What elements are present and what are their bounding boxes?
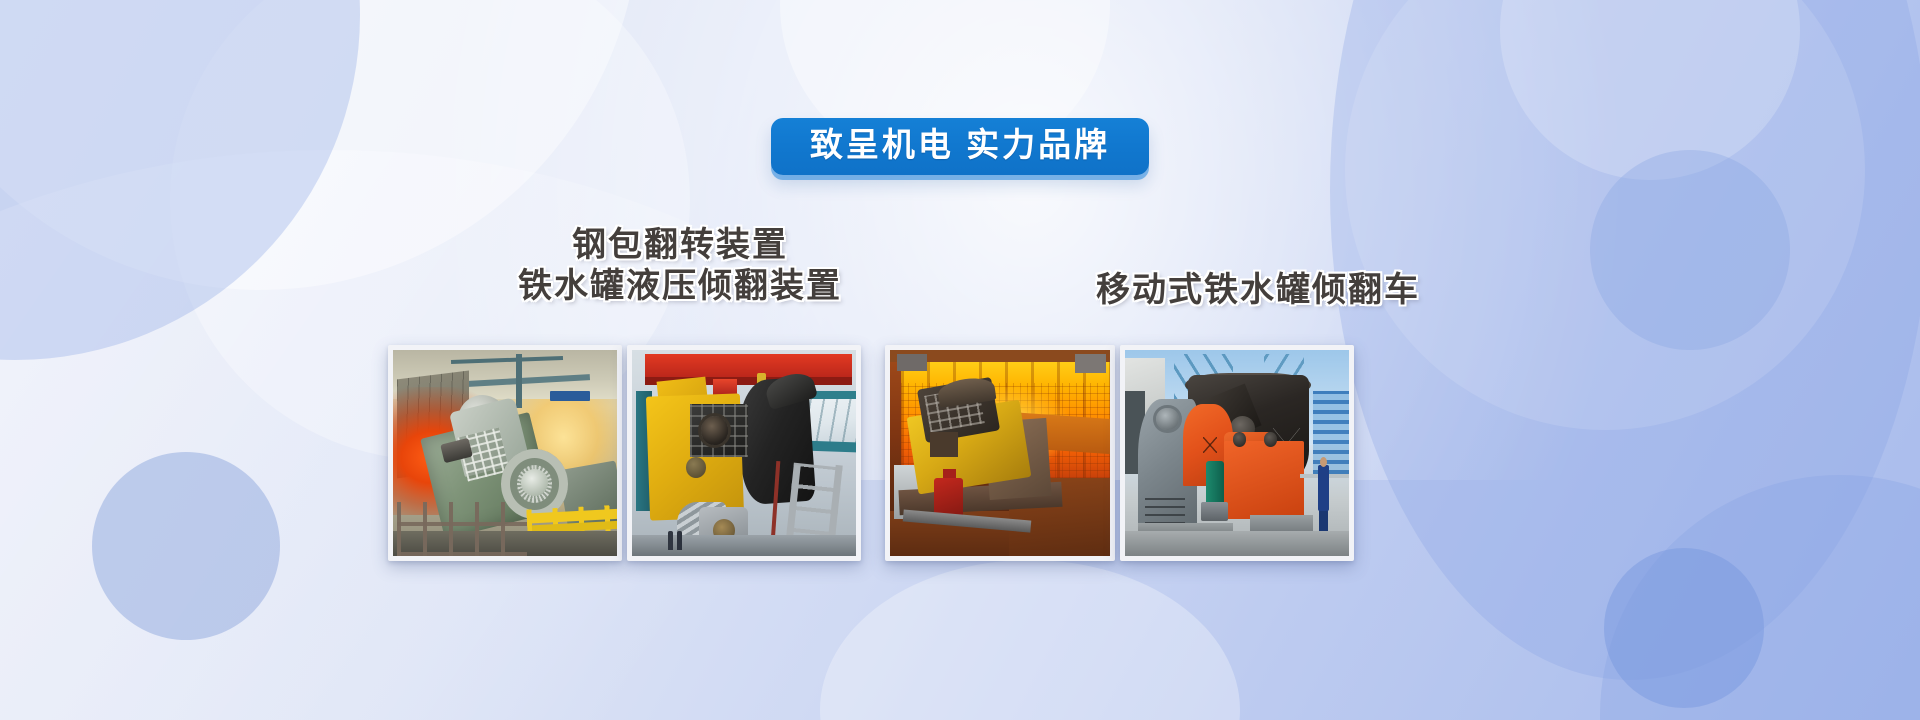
pivot-bolt bbox=[686, 457, 706, 478]
heading-mobile-tipping-car: 移动式铁水罐倾翻车 bbox=[1008, 270, 1508, 311]
photo-canvas bbox=[393, 350, 617, 556]
ram-base-plate bbox=[1201, 502, 1228, 521]
brand-badge[interactable]: 致呈机电 实力品牌 bbox=[771, 118, 1149, 175]
photo-orange-grey-tipping-car[interactable] bbox=[1120, 345, 1354, 561]
control-panel bbox=[930, 432, 959, 457]
photo-pair-ladle-tilting-device bbox=[388, 345, 861, 561]
worker-torso bbox=[1318, 465, 1329, 510]
decor-circle-3 bbox=[92, 452, 280, 640]
orange-tipping-cradle bbox=[1224, 441, 1305, 519]
worker-figure-1 bbox=[668, 531, 673, 550]
badge-container: 致呈机电 实力品牌 bbox=[0, 118, 1920, 175]
photo-canvas bbox=[632, 350, 856, 556]
shop-floor bbox=[632, 535, 856, 556]
safety-fence bbox=[397, 502, 527, 556]
heading-ladle-tilting-device: 钢包翻转装置 铁水罐液压倾翻装置 bbox=[390, 225, 970, 308]
brand-badge-label: 致呈机电 实力品牌 bbox=[810, 127, 1110, 164]
concrete-plinth bbox=[1125, 531, 1349, 556]
blue-steel-structure bbox=[1313, 391, 1349, 473]
photo-yellow-hydraulic-tilter[interactable] bbox=[627, 345, 861, 561]
photo-canvas bbox=[890, 350, 1110, 556]
heading-line-1: 移动式铁水罐倾翻车 bbox=[1008, 270, 1508, 311]
headings-row: 钢包翻转装置 铁水罐液压倾翻装置 移动式铁水罐倾翻车 bbox=[0, 225, 1920, 335]
photo-tipping-car-furnace[interactable] bbox=[885, 345, 1115, 561]
hero-banner: 致呈机电 实力品牌 钢包翻转装置 铁水罐液压倾翻装置 移动式铁水罐倾翻车 bbox=[0, 0, 1920, 720]
cover-marking bbox=[1203, 437, 1216, 453]
cradle-pin-2 bbox=[1264, 432, 1277, 446]
photo-strip bbox=[388, 345, 1538, 610]
heading-line-2: 铁水罐液压倾翻装置 bbox=[390, 266, 970, 307]
gear-wheel-hub bbox=[521, 469, 548, 496]
drive-shaft-end bbox=[701, 416, 728, 445]
heading-line-1: 钢包翻转装置 bbox=[390, 225, 970, 266]
photo-canvas bbox=[1125, 350, 1349, 556]
upper-vent-left bbox=[897, 354, 928, 370]
decor-circle-9 bbox=[1604, 548, 1764, 708]
photo-pair-mobile-tipping-car bbox=[885, 345, 1354, 561]
cradle-pin-1 bbox=[1233, 432, 1246, 446]
photo-green-ladle-tilter[interactable] bbox=[388, 345, 622, 561]
upper-vent-right bbox=[1075, 354, 1106, 373]
worker-figure-2 bbox=[677, 531, 682, 550]
decor-circle-8 bbox=[1600, 475, 1920, 720]
frame-pivot-hub bbox=[1156, 408, 1178, 431]
green-hydraulic-ram bbox=[1206, 461, 1224, 506]
wall-sign bbox=[550, 391, 590, 401]
